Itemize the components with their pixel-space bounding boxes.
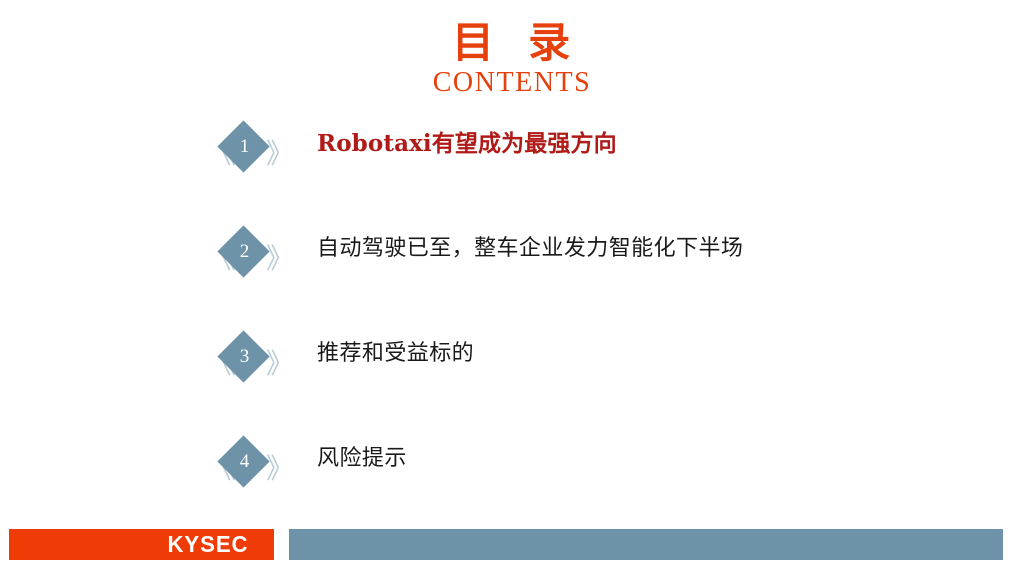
brand-logo-text: KYSEC (167, 531, 274, 558)
contents-marker-4: 《 4 》 (207, 438, 295, 500)
contents-item-number: 3 (225, 338, 263, 375)
contents-item-number: 4 (225, 443, 263, 480)
footer-accent-bar (289, 529, 1003, 560)
contents-list: 《 1 》 Robotaxi有望成为最强方向 《 2 》 自动驾驶已至，整车企业… (0, 113, 1024, 533)
brand-logo-bar: KYSEC (9, 529, 274, 560)
contents-marker-1: 《 1 》 (207, 123, 295, 185)
slide-canvas: 目 录 CONTENTS 《 1 》 Robotaxi有望成为最强方向 《 2 … (0, 0, 1024, 576)
contents-item-label[interactable]: 自动驾驶已至，整车企业发力智能化下半场 (317, 218, 743, 280)
slide-title-block: 目 录 CONTENTS (0, 20, 1024, 98)
chevron-right-icon: 》 (266, 455, 294, 483)
contents-item-label[interactable]: 风险提示 (317, 428, 407, 490)
contents-item-label[interactable]: Robotaxi有望成为最强方向 (317, 113, 617, 175)
contents-item-number: 1 (225, 128, 263, 165)
contents-item-1[interactable]: 《 1 》 Robotaxi有望成为最强方向 (0, 113, 1024, 218)
contents-item-number: 2 (225, 233, 263, 270)
chevron-right-icon: 》 (266, 350, 294, 378)
contents-marker-2: 《 2 》 (207, 228, 295, 290)
slide-footer: KYSEC (0, 529, 1024, 560)
contents-item-4[interactable]: 《 4 》 风险提示 (0, 428, 1024, 533)
contents-item-label[interactable]: 推荐和受益标的 (317, 323, 474, 385)
page-title: 目 录 (0, 20, 1024, 66)
page-subtitle: CONTENTS (0, 68, 1024, 98)
chevron-right-icon: 》 (266, 245, 294, 273)
chevron-right-icon: 》 (266, 140, 294, 168)
contents-item-3[interactable]: 《 3 》 推荐和受益标的 (0, 323, 1024, 428)
contents-item-2[interactable]: 《 2 》 自动驾驶已至，整车企业发力智能化下半场 (0, 218, 1024, 323)
contents-marker-3: 《 3 》 (207, 333, 295, 395)
